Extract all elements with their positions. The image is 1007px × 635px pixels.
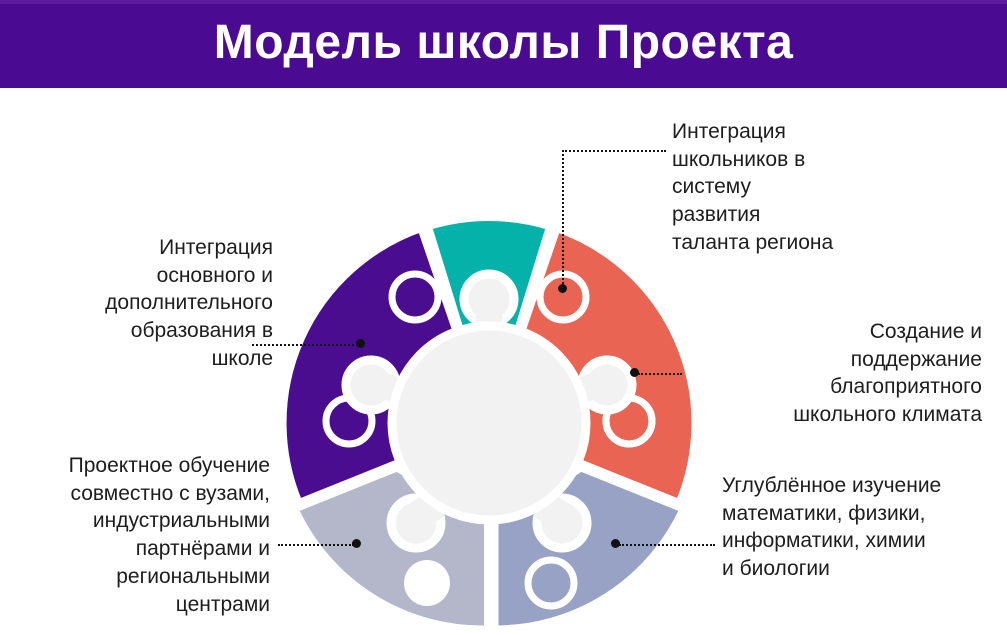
callout-label-integration: Интеграция основного и дополнительного о… <box>45 234 273 373</box>
page-title: Модель школы Проекта <box>214 19 794 67</box>
puzzle-wheel-diagram <box>283 217 695 629</box>
callout-label-climate: Создание и поддержание благоприятного шк… <box>686 318 982 429</box>
header-banner: Модель школы Проекта <box>0 0 1007 88</box>
callout-label-subjects: Углублённое изучение математики, физики,… <box>722 472 1002 583</box>
callout-label-projects: Проектное обучение совместно с вузами, и… <box>20 452 270 618</box>
puzzle-wheel-svg <box>283 217 695 629</box>
callout-label-talent: Интеграция школьников в систему развития… <box>672 118 992 257</box>
infographic-page: Модель школы Проекта <box>0 0 1007 635</box>
